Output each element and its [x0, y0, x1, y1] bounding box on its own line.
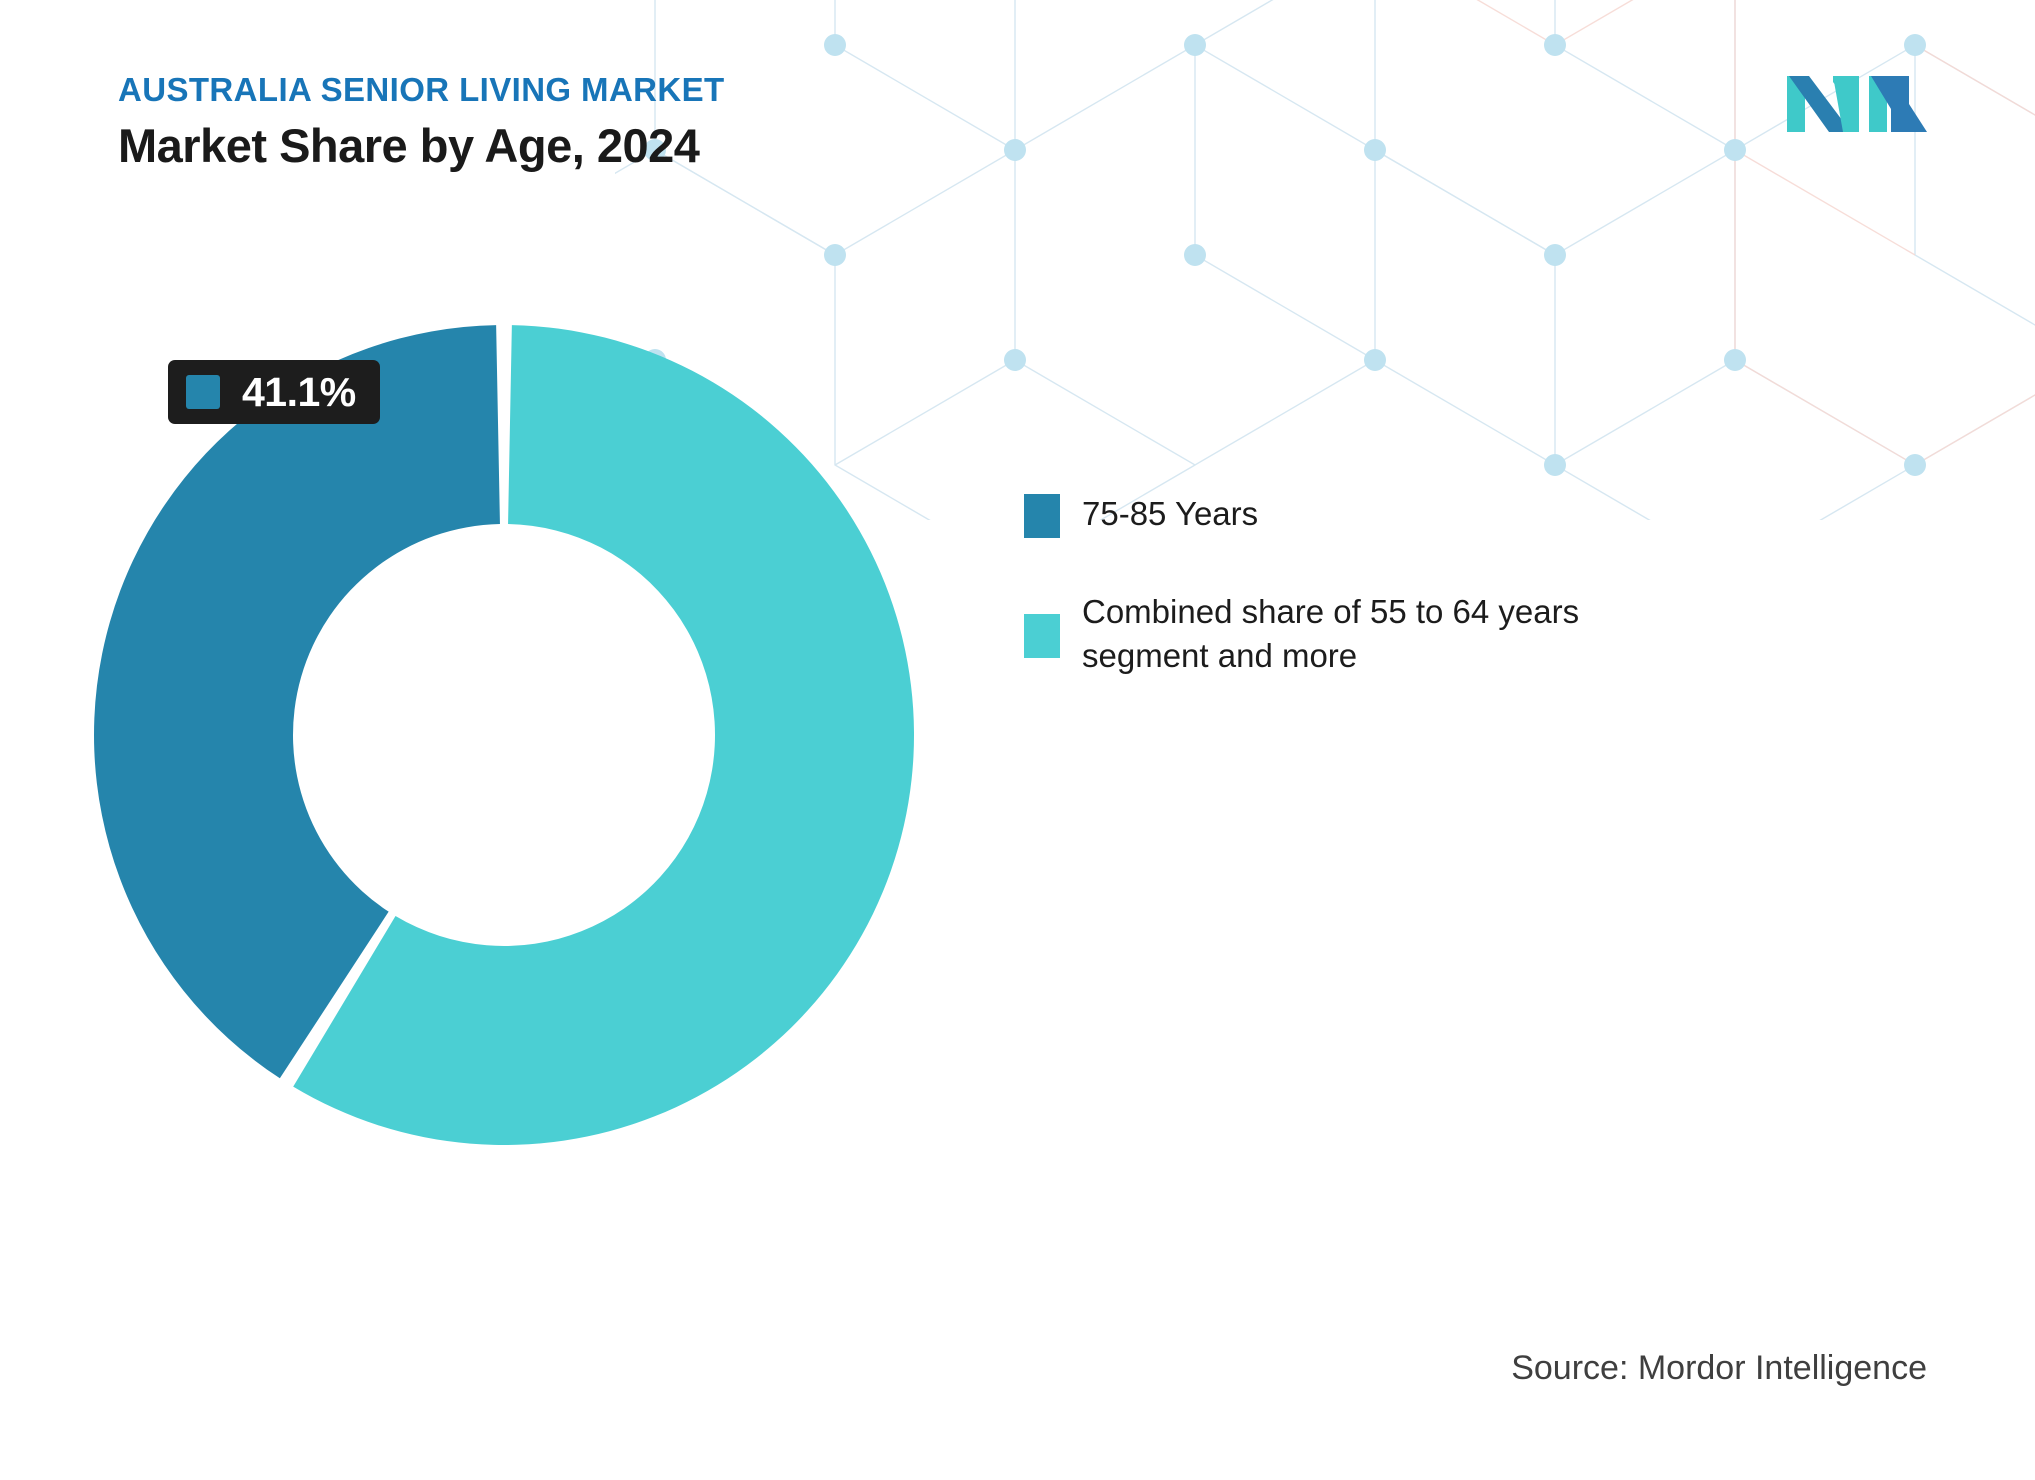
data-label-tooltip: 41.1% — [168, 360, 380, 424]
legend-swatch-75-85-years — [1024, 494, 1060, 538]
legend-item-75-85-years[interactable]: 75-85 Years — [1024, 492, 1714, 538]
legend-label-75-85-years: 75-85 Years — [1082, 492, 1258, 536]
donut-chart: 41.1% — [0, 0, 1010, 1250]
data-label-swatch — [186, 375, 220, 409]
legend-item-combined-share[interactable]: Combined share of 55 to 64 years segment… — [1024, 590, 1714, 677]
donut-chart-svg — [0, 0, 1010, 1250]
mordor-intelligence-logo — [1787, 68, 1927, 140]
legend-label-combined-share: Combined share of 55 to 64 years segment… — [1082, 590, 1712, 677]
source-attribution: Source: Mordor Intelligence — [1511, 1349, 1927, 1388]
legend-swatch-combined-share — [1024, 614, 1060, 658]
chart-legend: 75-85 Years Combined share of 55 to 64 y… — [1024, 492, 1714, 729]
data-label-value: 41.1% — [242, 372, 356, 413]
